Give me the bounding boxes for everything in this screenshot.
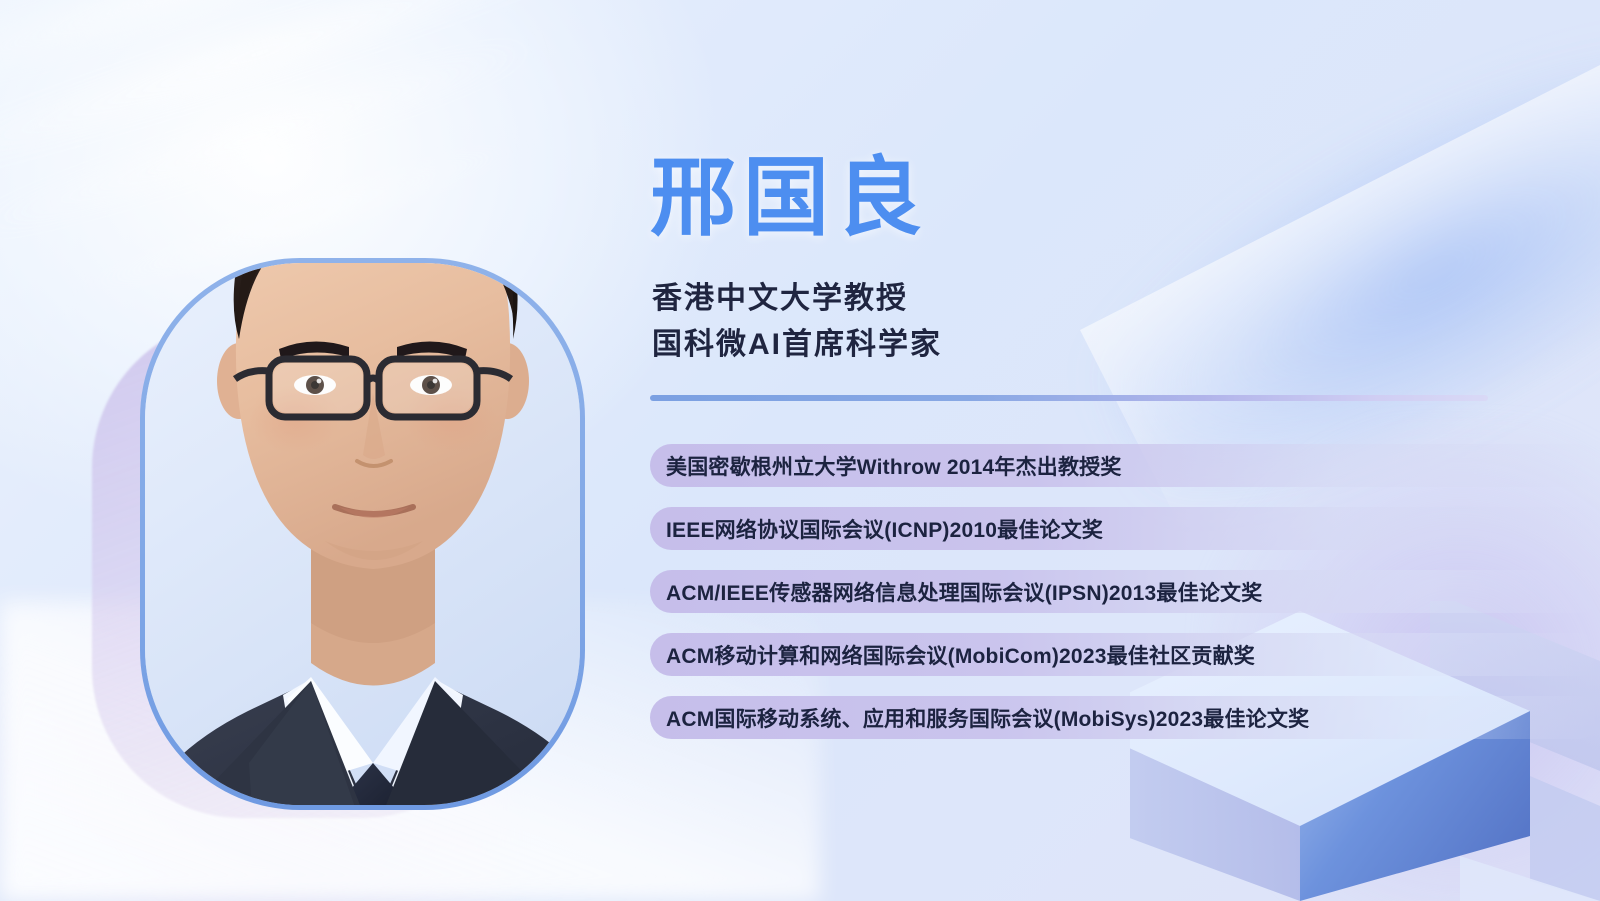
award-label: ACM移动计算和网络国际会议(MobiCom)2023最佳社区贡献奖	[666, 640, 1255, 670]
page-title: 邢国良	[650, 155, 929, 241]
award-label: IEEE网络协议国际会议(ICNP)2010最佳论文奖	[666, 514, 1103, 544]
award-label: 美国密歇根州立大学Withrow 2014年杰出教授奖	[666, 451, 1122, 481]
award-item: ACM/IEEE传感器网络信息处理国际会议(IPSN)2013最佳论文奖	[650, 570, 1600, 613]
award-item: ACM国际移动系统、应用和服务国际会议(MobiSys)2023最佳论文奖	[650, 696, 1600, 739]
award-item: 美国密歇根州立大学Withrow 2014年杰出教授奖	[650, 444, 1600, 487]
profile-content: 邢国良 香港中文大学教授 国科微AI首席科学家 美国密歇根州立大学Withrow…	[650, 0, 1600, 901]
award-label: ACM国际移动系统、应用和服务国际会议(MobiSys)2023最佳论文奖	[666, 703, 1309, 733]
person-illustration	[145, 263, 580, 805]
profile-title-line: 国科微AI首席科学家	[652, 322, 942, 368]
awards-list: 美国密歇根州立大学Withrow 2014年杰出教授奖 IEEE网络协议国际会议…	[650, 444, 1600, 759]
portrait-frame	[140, 258, 585, 810]
award-item: IEEE网络协议国际会议(ICNP)2010最佳论文奖	[650, 507, 1600, 550]
portrait-section	[60, 0, 660, 901]
profile-title-line: 香港中文大学教授	[652, 276, 942, 322]
portrait-photo	[145, 263, 580, 805]
award-label: ACM/IEEE传感器网络信息处理国际会议(IPSN)2013最佳论文奖	[666, 577, 1262, 607]
divider	[650, 395, 1488, 401]
award-item: ACM移动计算和网络国际会议(MobiCom)2023最佳社区贡献奖	[650, 633, 1600, 676]
profile-titles: 香港中文大学教授 国科微AI首席科学家	[652, 276, 942, 368]
